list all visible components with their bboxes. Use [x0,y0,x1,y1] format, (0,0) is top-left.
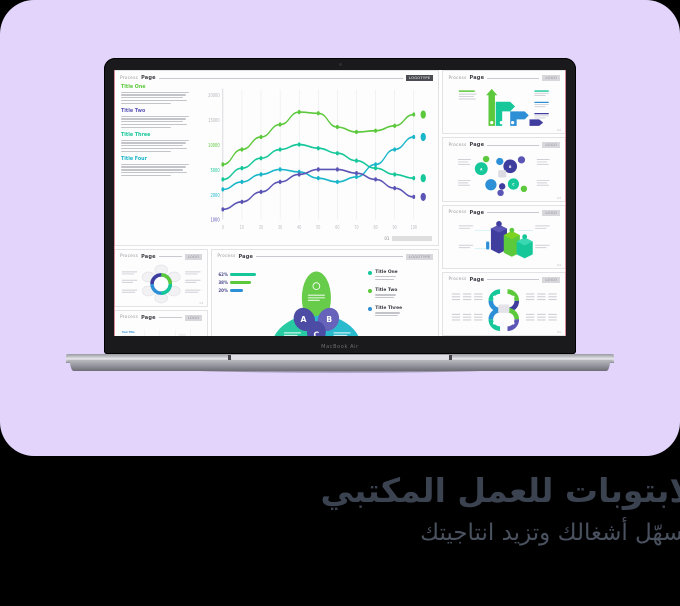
legend-dot [368,271,372,275]
venn-legend: Title One [368,264,432,336]
laptop-base-notch [230,355,450,360]
slide-header-word-bold: Page [470,210,485,216]
legend-title: Title Three [121,133,192,138]
petal-letter-b: B [327,315,333,324]
chart-data-point [278,122,281,126]
header-rule [487,145,539,146]
x-axis-tick: 20 [259,224,263,231]
x-axis-tick: 60 [335,224,339,231]
venn-legend-item: Title Two [368,288,432,300]
slide-pager[interactable]: 01 [384,236,432,241]
chart-data-point [259,156,262,160]
slide-header: Process Page LOGO [443,71,565,83]
y-axis-tick: 2000 [210,192,219,199]
slide-header-word-light: Process [448,143,466,148]
legend-title: Title Two [121,109,192,114]
percentage-bar-row: 62% [218,272,265,277]
flow-boxes-svg: Your Title [119,324,203,336]
laptop-screen: Process Page LOGOTYPE Title One [114,70,566,336]
chart-data-point [412,135,415,139]
chart-data-point [221,187,224,191]
x-axis-tick: 50 [316,224,320,231]
venn-petals-svg: A B C [265,264,368,336]
legend-title: Title One [121,85,192,90]
slide-header-word-light: Process [217,254,235,259]
x-axis-tick: 100 [410,224,417,231]
pager-number: 01 [384,236,389,241]
chart-data-point [317,176,320,180]
chart-data-point [240,180,243,184]
header-rule [256,256,403,257]
y-axis-tick: 1000 [210,217,219,224]
logotype-badge: LOGO [542,142,560,148]
venn-legend-title: Title Three [375,306,402,311]
chart-data-point [374,162,377,166]
stairs-diagram [443,218,565,268]
pager-bar[interactable] [392,236,432,241]
x-axis-tick: 70 [354,224,358,231]
cycle-arrows-slide[interactable]: Process Page LOGO [442,272,566,336]
chart-data-point [336,167,339,171]
flow-boxes-slide[interactable]: Process Page LOGO Your Title [114,310,208,336]
chart-data-point [336,180,339,184]
laptop-illustration: Process Page LOGOTYPE Title One [66,58,614,376]
chart-legend: Title One Title [121,85,196,239]
x-axis-tick: 0 [222,224,224,231]
laptop-base-body [70,361,610,371]
deck-left-column: Process Page LOGOTYPE Title One [114,70,439,336]
legend-item-title-one: Title One [121,85,192,104]
chart-data-point [278,167,281,171]
chart-data-point [317,146,320,150]
chart-data-point [259,135,262,139]
promo-headline: لابتوبات للعمل المكتبي [321,470,680,511]
chart-plot-area: 2000015000100005000200010000102030405060… [196,85,433,239]
laptop-base [66,354,614,376]
slide-header: Process Page LOGOTYPE [115,71,438,83]
chart-body: Title One Title [115,83,438,243]
legend-dot [368,307,372,311]
slide-footer-note: 05 [557,330,561,334]
chart-data-point [355,130,358,134]
slide-deck: Process Page LOGOTYPE Title One [114,70,566,336]
chart-data-point [259,190,262,194]
screenshot-root: Process Page LOGOTYPE Title One [0,0,680,606]
slide-header-word-bold: Page [470,75,485,81]
petal-letter-a: A [301,315,307,324]
y-axis-tick: 5000 [210,167,219,174]
webcam-icon [339,63,342,66]
chart-data-point [240,200,243,204]
chart-data-point [278,180,281,184]
chart-data-point [317,167,320,171]
bubble-network-slide[interactable]: Process Page LOGO [442,137,566,201]
percentage-bars: 62% 38% 20 [218,264,265,336]
slide-footer-note: 04 [557,263,561,267]
percentage-bar-fill [230,289,243,292]
venn-legend-title: Title Two [375,288,397,293]
slide-header-word-light: Process [120,76,138,81]
percentage-value: 38% [218,280,228,285]
x-axis-tick: 80 [373,224,377,231]
slide-footer-note: 03 [557,196,561,200]
slide-header-word-light: Process [120,254,138,259]
header-rule [159,256,182,257]
chart-data-point [393,124,396,128]
legend-body-placeholder [121,164,192,177]
download-icon [420,110,425,118]
chart-data-point [278,147,281,151]
logotype-badge: LOGO [542,277,560,283]
line-chart-svg: 2000015000100005000200010000102030405060… [196,85,433,239]
arrow-process-diagram [443,83,565,133]
bulb-icon [420,193,425,201]
legend-item-title-four: Title Four [121,157,192,176]
deck-right-column: Process Page LOGO [442,70,566,336]
laptop-base-notch-left [228,355,231,360]
chart-data-point [374,166,377,170]
3d-stairs-svg [447,219,561,267]
chart-data-point [336,125,339,129]
cycle-arrows-diagram [443,285,565,335]
laptop-lid: Process Page LOGOTYPE Title One [104,58,576,354]
slide-header: Process Page LOGO [443,138,565,150]
logotype-badge: LOGO [185,254,203,260]
legend-dot [368,289,372,293]
percentage-value: 62% [218,272,228,277]
venn-legend-item: Title Three [368,306,432,318]
laptop-base-notch-right [449,355,452,360]
venn-legend-item: Title One [368,270,432,282]
x-axis-tick: 90 [392,224,396,231]
screen-edge-accent-left [114,70,115,336]
percentage-bar-fill [230,281,251,284]
chart-data-point [298,110,301,114]
slide-header-word-bold: Page [470,277,485,283]
x-axis-tick: 30 [278,224,282,231]
deck-small-left-column: Process Page LOGO [114,249,208,336]
slide-header-word-light: Process [448,76,466,81]
legend-item-title-three: Title Three [121,133,192,152]
person-icon [420,174,425,182]
chart-data-point [221,207,224,211]
legend-body-placeholder [121,92,192,105]
logotype-badge: LOGO [185,315,203,321]
chart-data-point [393,172,396,176]
venn-legend-title: Title One [375,270,397,275]
donut-diagram [115,262,207,306]
legend-body-placeholder [121,140,192,153]
chart-data-point [374,129,377,133]
chart-data-point [412,176,415,180]
slide-header-word-light: Process [448,210,466,215]
flow-boxes-title: Your Title [121,331,135,334]
chart-data-point [298,172,301,176]
chart-data-point [355,175,358,179]
slide-header: Process Page LOGO [443,273,565,285]
chart-data-point [393,147,396,151]
slide-header: Process Page LOGO [115,250,207,262]
chart-data-point [336,151,339,155]
y-axis-tick: 10000 [208,142,220,149]
slide-header-word-bold: Page [141,315,156,321]
donut-petals-slide[interactable]: Process Page LOGO [114,249,208,307]
3d-stairs-slide[interactable]: Process Page LOGO [442,205,566,269]
venn-petal-diagram: A B C [265,264,368,336]
chart-data-point [221,177,224,181]
logotype-badge: LOGO [542,210,560,216]
cycle-arrows-svg [447,286,561,334]
chart-data-point [240,166,243,170]
slide-header-word-light: Process [448,277,466,282]
percentage-value: 20% [218,288,228,293]
promo-card: Process Page LOGOTYPE Title One [0,0,680,456]
bubble-network-diagram: ABC [443,150,565,200]
percentage-bar-fill [230,273,256,276]
logotype-badge: LOGO [542,75,560,81]
legend-title: Title Four [121,157,192,162]
header-rule [487,212,539,213]
slide-header-word-light: Process [120,315,138,320]
x-axis-tick: 40 [297,224,301,231]
donut-petals-svg [119,263,203,305]
logotype-badge: LOGOTYPE [406,75,434,81]
percentage-bar-row: 38% [218,280,265,285]
percentage-bar-row: 20% [218,288,265,293]
slide-footer-note: 01 [200,301,204,305]
chart-data-point [393,186,396,190]
logotype-badge: LOGOTYPE [406,254,434,260]
x-axis-tick: 10 [240,224,244,231]
venn-body: 62% 38% 20 [212,262,438,336]
legend-item-title-two: Title Two [121,109,192,128]
y-axis-tick: 20000 [208,92,220,99]
slide-header-word-bold: Page [470,142,485,148]
slide-header-word-bold: Page [141,254,156,260]
laptop-model-label: MacBook Air [104,344,576,350]
legend-body-placeholder [121,116,192,129]
slide-header-word-bold: Page [141,75,156,81]
chart-data-point [221,162,224,166]
deck-bottom-row: Process Page LOGO [114,249,439,336]
header-rule [487,78,539,79]
chart-data-point [259,172,262,176]
slide-header: Process Page LOGOTYPE [212,250,438,262]
flow-boxes-diagram: Your Title [115,323,207,336]
slide-header-word-bold: Page [238,254,253,260]
promo-subheadline: تسهّل أشغالك وتزيد انتاجيتك [420,519,680,549]
location-icon [420,133,425,141]
arrow-process-svg [447,84,561,132]
arrow-process-slide[interactable]: Process Page LOGO [442,70,566,134]
bubble-network-svg: ABC [447,151,561,199]
chart-data-point [412,195,415,199]
chart-data-point [374,177,377,181]
chart-data-point [355,171,358,175]
promo-text-block: لابتوبات للعمل المكتبي تسهّل أشغالك وتزي… [0,458,680,606]
slide-header: Process Page LOGO [443,206,565,218]
y-axis-tick: 15000 [208,117,220,124]
screen-edge-accent-right [565,70,566,336]
petal-letter-c: C [314,330,320,336]
header-rule [487,279,539,280]
chart-data-point [298,142,301,146]
slide-header: Process Page LOGO [115,311,207,323]
venn-petals-slide[interactable]: Process Page LOGOTYPE 62% [211,249,439,336]
chart-data-point [317,111,320,115]
slide-footer-note: 02 [557,128,561,132]
header-rule [159,78,403,79]
line-chart-slide[interactable]: Process Page LOGOTYPE Title One [114,70,439,246]
chart-data-point [355,159,358,163]
header-rule [159,317,182,318]
chart-data-point [240,147,243,151]
chart-data-point [412,112,415,116]
